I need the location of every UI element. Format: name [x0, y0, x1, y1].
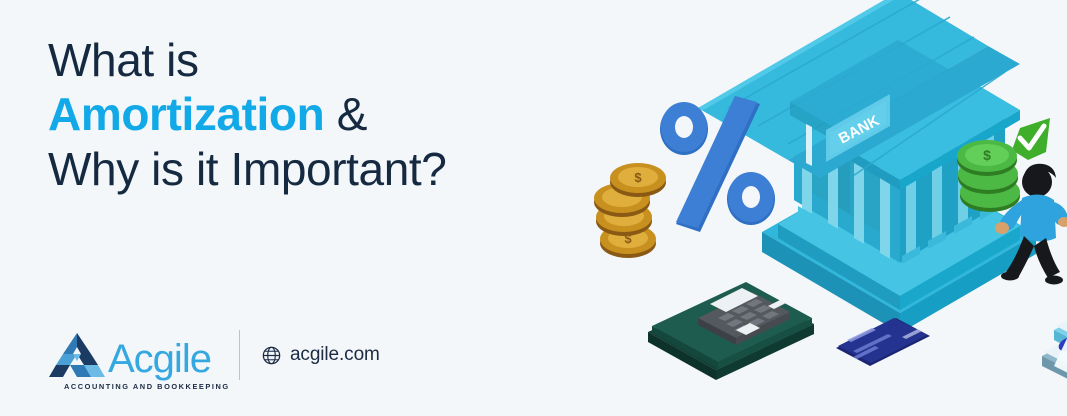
- headline-line-1: What is: [48, 34, 446, 86]
- page-title: What is Amortization & Why is it Importa…: [48, 34, 446, 195]
- coin-stack: $ $: [594, 163, 666, 258]
- footer-divider: [239, 330, 240, 380]
- globe-icon: [262, 346, 281, 365]
- acgile-logo-mark: [48, 332, 106, 378]
- cash-bundle: [1042, 294, 1067, 392]
- illustration-canvas: BANK $: [550, 0, 1067, 416]
- headline-accent-word: Amortization: [48, 88, 324, 140]
- logo-tagline: ACCOUNTING AND BOOKKEEPING: [64, 382, 230, 391]
- logo-wordmark: Acgile: [108, 340, 211, 378]
- website-label: acgile.com: [290, 344, 380, 366]
- headline-line-3: Why is it Important?: [48, 143, 446, 195]
- ledger-book-with-calculator: [648, 282, 814, 380]
- headline-ampersand: &: [337, 88, 367, 140]
- svg-text:$: $: [634, 170, 642, 185]
- hero-illustration: BANK $: [550, 0, 1067, 416]
- checkmark: [1012, 118, 1050, 160]
- headline-line-2: Amortization &: [48, 88, 446, 140]
- credit-card: [836, 318, 930, 366]
- brand-footer: Acgile ACCOUNTING AND BOOKKEEPING acgile…: [48, 326, 380, 384]
- svg-text:$: $: [983, 147, 991, 163]
- money-stack-green: $: [957, 140, 1020, 212]
- website-link[interactable]: acgile.com: [262, 344, 380, 366]
- logo[interactable]: Acgile ACCOUNTING AND BOOKKEEPING: [48, 332, 211, 378]
